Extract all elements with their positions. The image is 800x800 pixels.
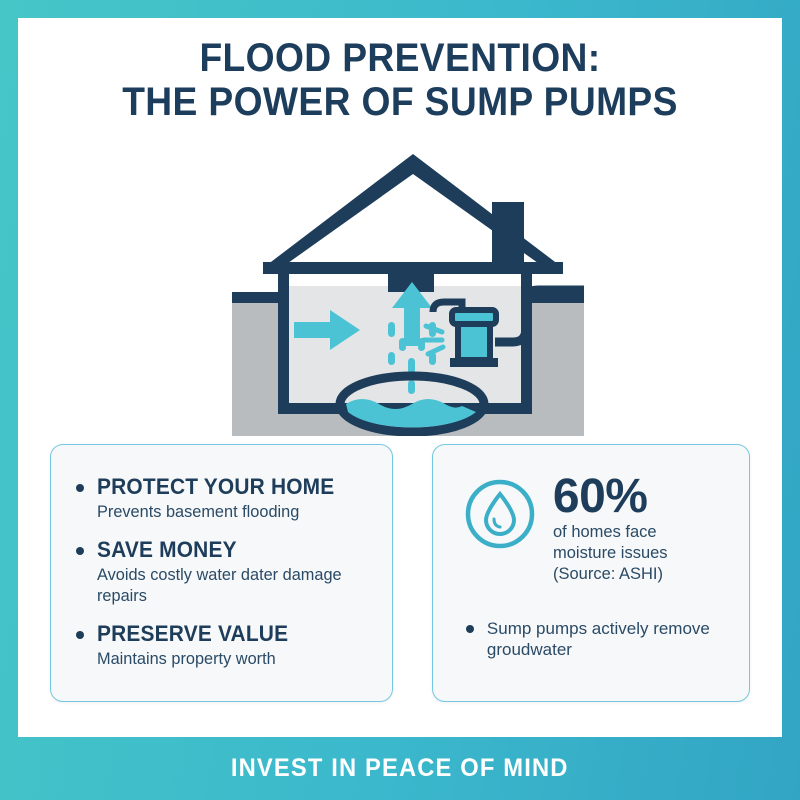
infographic-poster: FLOOD PREVENTION: THE POWER OF SUMP PUMP… — [0, 0, 800, 800]
statistic-card: 60% of homes face moisture issues (Sourc… — [432, 444, 750, 702]
benefits-list: PROTECT YOUR HOME Prevents basement floo… — [73, 475, 374, 669]
basement-wall-left-icon — [278, 274, 289, 414]
statistic-source: (Source: ASHI) — [553, 563, 668, 584]
footer-tagline: INVEST IN PEACE OF MIND — [231, 754, 569, 783]
benefit-subtext: Prevents basement flooding — [97, 501, 363, 522]
benefit-heading: PRESERVE VALUE — [97, 622, 360, 646]
title-line-1: FLOOD PREVENTION: — [199, 36, 600, 80]
chimney-icon — [492, 202, 524, 268]
benefit-subtext: Avoids costly water dater damage repairs — [97, 564, 363, 606]
statistic-line: of homes face — [553, 521, 668, 542]
pump-body-icon — [458, 324, 490, 360]
benefit-heading: PROTECT YOUR HOME — [97, 475, 360, 499]
footer-banner: INVEST IN PEACE OF MIND — [0, 737, 800, 800]
list-item: Sump pumps actively remove groudwater — [463, 618, 731, 660]
statistic-bullets: Sump pumps actively remove groudwater — [463, 618, 731, 660]
page-title: FLOOD PREVENTION: THE POWER OF SUMP PUMP… — [45, 36, 756, 124]
title-line-2: THE POWER OF SUMP PUMPS — [45, 80, 756, 124]
house-sump-pump-illustration — [218, 146, 598, 436]
statistic-percent: 60% — [553, 473, 671, 521]
cards-row: PROTECT YOUR HOME Prevents basement floo… — [50, 444, 750, 702]
statistic-block: 60% of homes face moisture issues (Sourc… — [463, 473, 731, 584]
statistic-text: 60% of homes face moisture issues (Sourc… — [553, 473, 671, 584]
water-drop-icon — [463, 477, 537, 556]
white-panel: FLOOD PREVENTION: THE POWER OF SUMP PUMP… — [18, 18, 782, 737]
benefit-heading: SAVE MONEY — [97, 538, 360, 562]
statistic-line: moisture issues — [553, 542, 668, 563]
list-item: PRESERVE VALUE Maintains property worth — [73, 622, 374, 669]
list-item: SAVE MONEY Avoids costly water dater dam… — [73, 538, 374, 606]
list-item: PROTECT YOUR HOME Prevents basement floo… — [73, 475, 374, 522]
pump-base-icon — [450, 358, 498, 367]
benefits-card: PROTECT YOUR HOME Prevents basement floo… — [50, 444, 393, 702]
benefit-subtext: Maintains property worth — [97, 648, 363, 669]
